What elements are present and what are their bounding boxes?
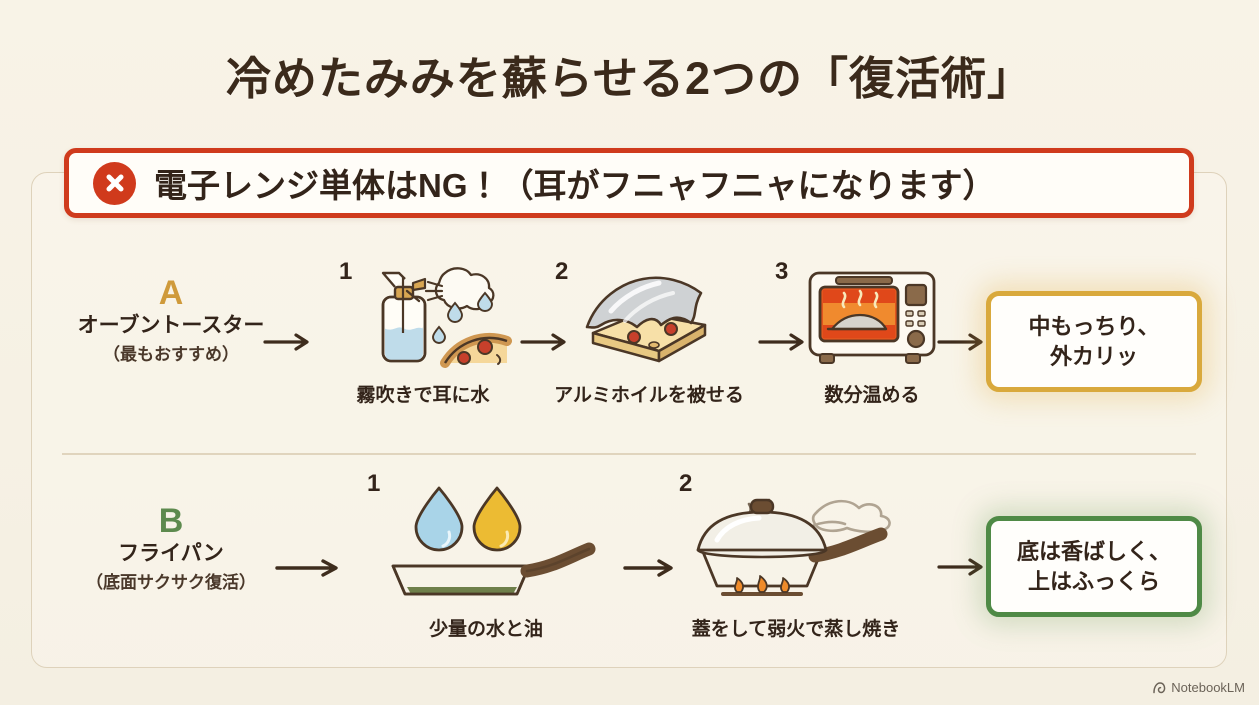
step-a-2: 2 アルミホイルを被せる (543, 254, 755, 407)
notebooklm-logo-icon (1152, 681, 1166, 695)
result-a-line2: 外カリッ (1028, 342, 1159, 372)
toaster-oven-icon (781, 254, 963, 374)
step-number-a-2: 2 (555, 260, 568, 284)
method-letter-b: B (31, 504, 311, 538)
row-divider (62, 453, 1196, 455)
result-box-a: 中もっちり、 外カリッ (986, 291, 1202, 392)
aluminum-foil-pizza-icon (543, 254, 755, 374)
step-caption-b-2: 蓋をして弱火で蒸し焼き (651, 614, 941, 641)
result-b-line2: 上はふっくら (1017, 567, 1171, 597)
footer-brand-label: NotebookLM (1171, 680, 1245, 695)
result-a-line1: 中もっちり、 (1028, 312, 1159, 342)
result-b-line1: 底は香ばしく、 (1017, 537, 1171, 567)
method-row-a: A オーブントースター （最もおすすめ） 1 (31, 246, 1227, 446)
spray-bottle-pizza-icon (327, 254, 519, 374)
method-name-b: フライパン (31, 542, 311, 566)
step-caption-a-2: アルミホイルを被せる (543, 380, 755, 407)
infographic-canvas: 冷めたみみを蘇らせる2つの「復活術」 電子レンジ単体はNG！（耳がフニャフニャに… (0, 0, 1259, 705)
arrow-b-2 (937, 556, 989, 578)
page-title: 冷めたみみを蘇らせる2つの「復活術」 (0, 42, 1259, 107)
warning-text: 電子レンジ単体はNG！（耳がフニャフニャになります） (154, 159, 996, 207)
footer-watermark: NotebookLM (1152, 680, 1245, 695)
step-b-1: 1 少量の水と油 (361, 474, 611, 641)
water-oil-drops-pan-icon (361, 474, 611, 608)
step-number-a-3: 3 (775, 260, 788, 284)
result-box-b: 底は香ばしく、 上はふっくら (986, 516, 1202, 617)
step-b-2: 2 (651, 474, 941, 641)
arrow-a-0 (263, 331, 315, 353)
step-number-a-1: 1 (339, 260, 352, 284)
warning-banner: 電子レンジ単体はNG！（耳がフニャフニャになります） (64, 148, 1194, 218)
step-a-3: 3 (781, 254, 963, 407)
arrow-a-3 (937, 331, 989, 353)
step-caption-a-3: 数分温める (781, 380, 963, 407)
step-number-b-2: 2 (679, 472, 692, 496)
x-circle-icon (93, 162, 136, 205)
covered-pan-flame-icon (651, 474, 941, 608)
method-label-b: B フライパン （底面サクサク復活） (31, 504, 311, 593)
step-number-b-1: 1 (367, 472, 380, 496)
step-caption-a-1: 霧吹きで耳に水 (327, 380, 519, 407)
step-caption-b-1: 少量の水と油 (361, 614, 611, 641)
step-a-1: 1 (327, 254, 519, 407)
method-sub-b: （底面サクサク復活） (31, 568, 311, 593)
arrow-b-0 (275, 556, 345, 580)
method-row-b: B フライパン （底面サクサク復活） 1 (31, 462, 1227, 662)
method-letter-a: A (31, 276, 311, 310)
